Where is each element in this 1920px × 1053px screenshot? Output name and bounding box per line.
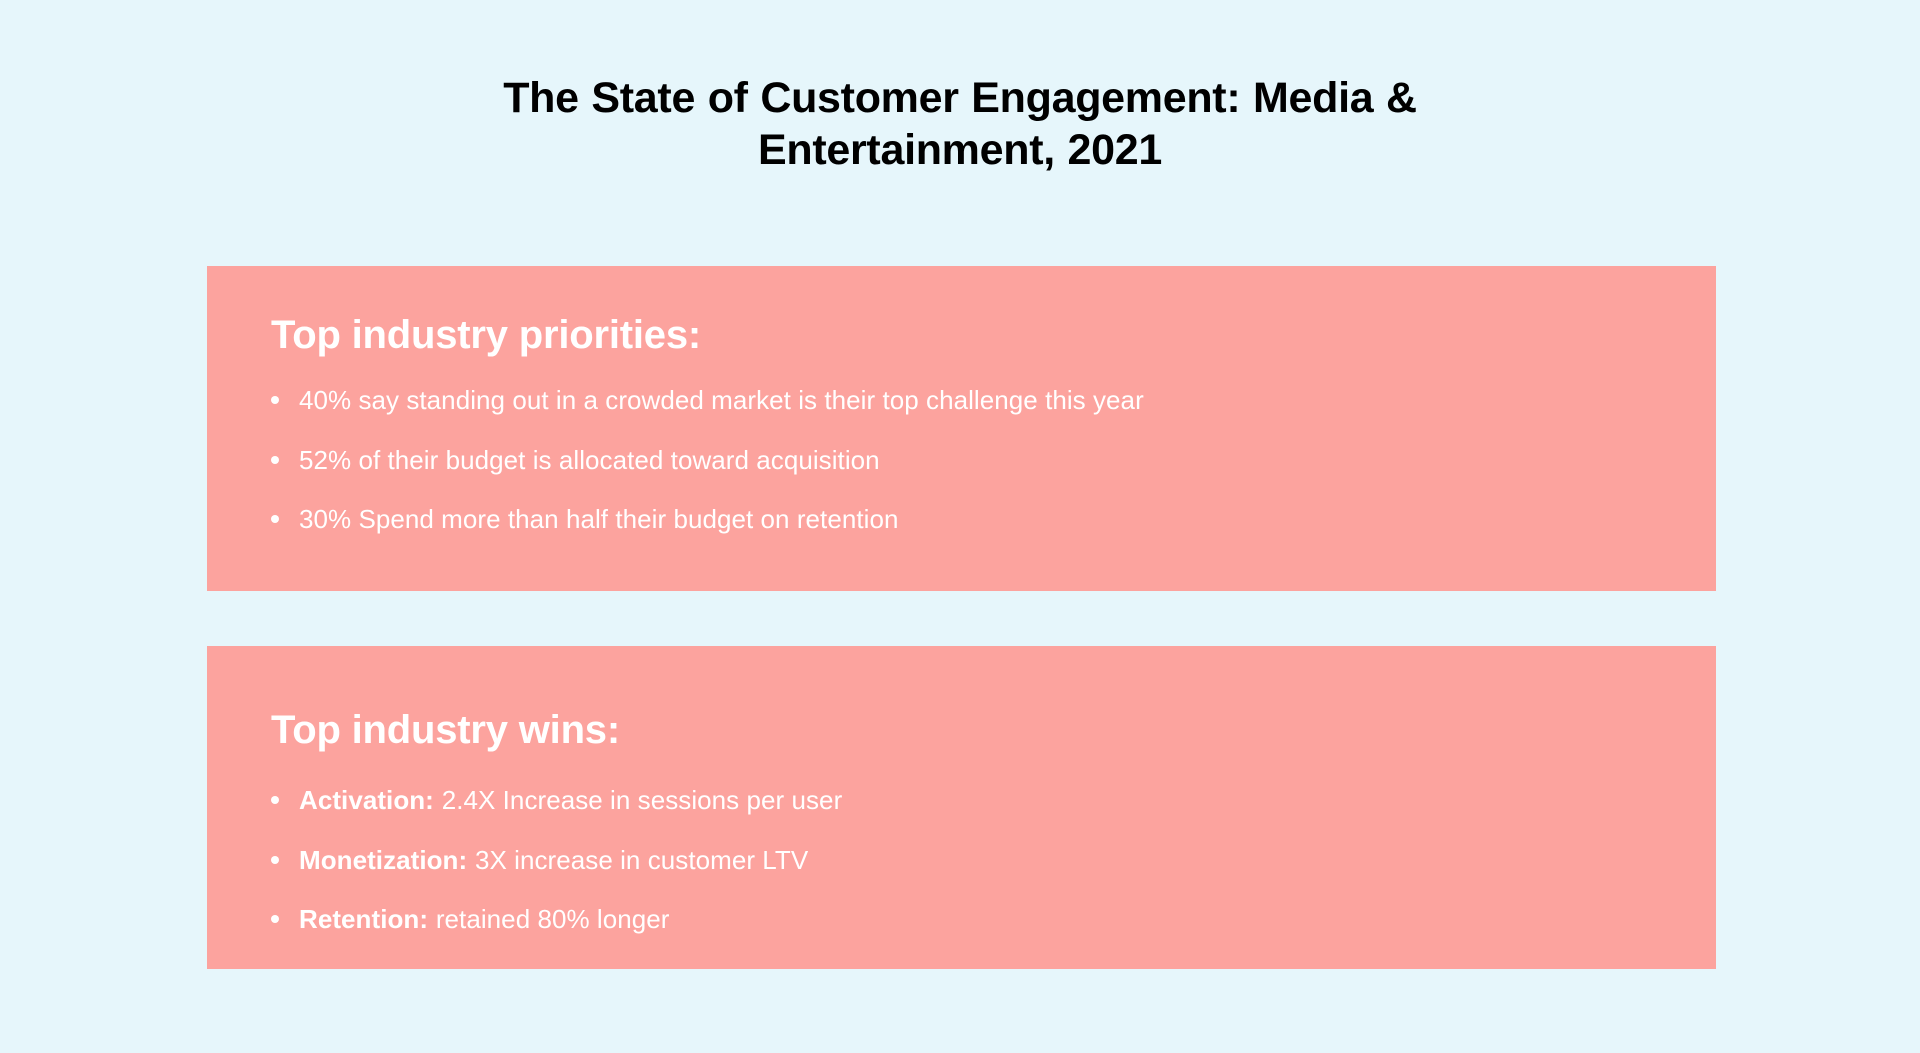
list-item-text: 3X increase in customer LTV [475, 845, 808, 875]
bullet-dot-icon [271, 915, 279, 923]
infographic-root: The State of Customer Engagement: Media … [0, 0, 1920, 1053]
list-item-text: 52% of their budget is allocated toward … [299, 445, 880, 475]
list-item: 40% say standing out in a crowded market… [271, 384, 1652, 417]
bullet-dot-icon [271, 856, 279, 864]
list-item: Retention:retained 80% longer [271, 903, 1652, 936]
card-heading-wins: Top industry wins: [271, 646, 1652, 752]
bullet-list-wins: Activation:2.4X Increase in sessions per… [271, 784, 1652, 936]
list-item-label: Monetization: [299, 845, 467, 875]
list-item: 30% Spend more than half their budget on… [271, 503, 1652, 536]
bullet-dot-icon [271, 396, 279, 404]
page-title: The State of Customer Engagement: Media … [360, 72, 1560, 177]
bullet-dot-icon [271, 796, 279, 804]
list-item-text: retained 80% longer [436, 904, 670, 934]
card-top-industry-wins: Top industry wins: Activation:2.4X Incre… [207, 646, 1716, 969]
card-heading-priorities: Top industry priorities: [271, 266, 1652, 357]
list-item: Activation:2.4X Increase in sessions per… [271, 784, 1652, 817]
card-top-industry-priorities: Top industry priorities: 40% say standin… [207, 266, 1716, 591]
list-item: 52% of their budget is allocated toward … [271, 444, 1652, 477]
list-item-text: 30% Spend more than half their budget on… [299, 504, 898, 534]
list-item-text: 40% say standing out in a crowded market… [299, 385, 1144, 415]
bullet-dot-icon [271, 515, 279, 523]
list-item-text: 2.4X Increase in sessions per user [442, 785, 843, 815]
bullet-list-priorities: 40% say standing out in a crowded market… [271, 384, 1652, 536]
title-block: The State of Customer Engagement: Media … [0, 72, 1920, 177]
list-item-label: Retention: [299, 904, 428, 934]
list-item-label: Activation: [299, 785, 434, 815]
list-item: Monetization:3X increase in customer LTV [271, 844, 1652, 877]
bullet-dot-icon [271, 456, 279, 464]
